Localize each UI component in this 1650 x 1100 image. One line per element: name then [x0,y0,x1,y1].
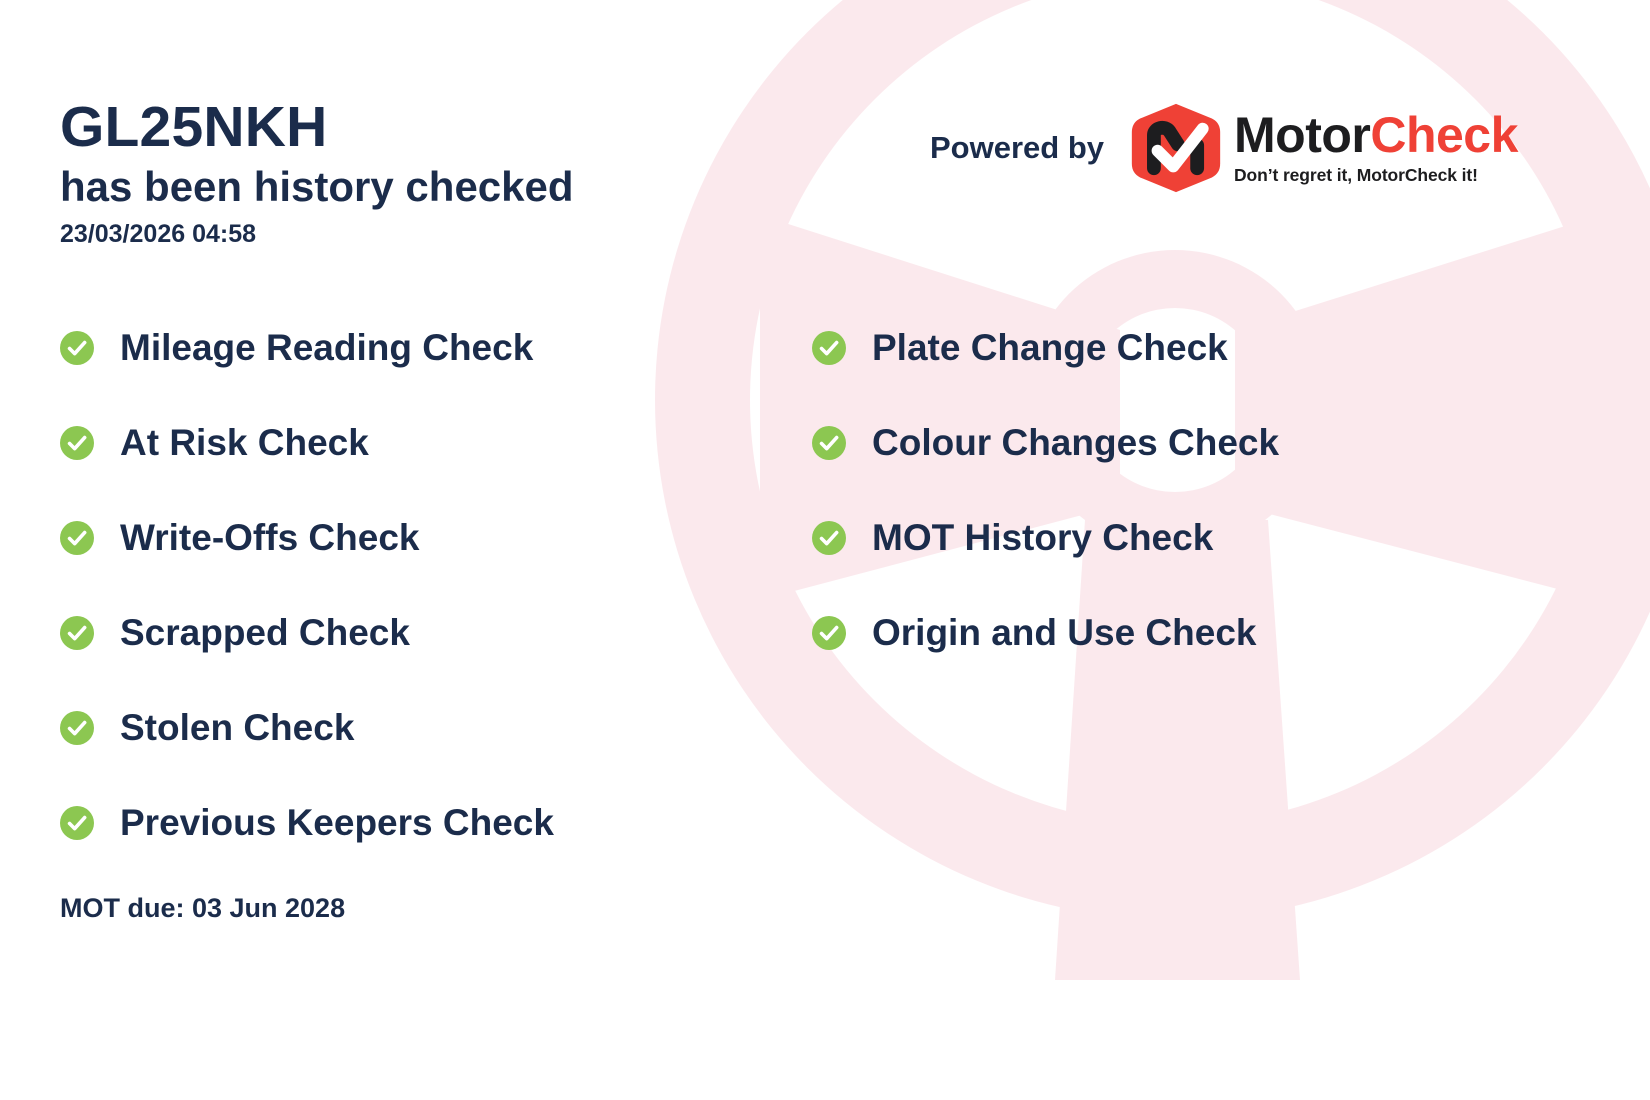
list-item: Colour Changes Check [812,395,1572,490]
mot-due-label: MOT due: 03 Jun 2028 [60,893,345,924]
registration-block: GL25NKH has been history checked 23/03/2… [60,98,574,249]
powered-by-label: Powered by [930,130,1104,166]
checks-column-right: Plate Change Check Colour Changes Check … [812,300,1572,680]
list-item: Previous Keepers Check [60,775,800,870]
card-header: GL25NKH has been history checked 23/03/2… [0,0,1650,300]
check-circle-icon [60,806,94,840]
card-content: GL25NKH has been history checked 23/03/2… [0,0,1650,1100]
check-label: Colour Changes Check [872,424,1279,461]
motorcheck-tagline: Don’t regret it, MotorCheck it! [1234,165,1518,186]
motorcheck-wordmark: MotorCheck [1234,110,1518,160]
page-title: GL25NKH [60,98,574,156]
check-circle-icon [60,331,94,365]
check-circle-icon [60,616,94,650]
list-item: At Risk Check [60,395,800,490]
list-item: Scrapped Check [60,585,800,680]
list-item: MOT History Check [812,490,1572,585]
check-label: Plate Change Check [872,329,1228,366]
powered-by-block: Powered by MotorCheck Don’t regret it, M… [930,105,1518,191]
list-item: Stolen Check [60,680,800,775]
check-label: Stolen Check [120,709,354,746]
check-circle-icon [812,331,846,365]
checks-column-left: Mileage Reading Check At Risk Check Writ… [60,300,800,870]
motorcheck-wordmark-block: MotorCheck Don’t regret it, MotorCheck i… [1234,110,1518,186]
list-item: Mileage Reading Check [60,300,800,395]
list-item: Origin and Use Check [812,585,1572,680]
list-item: Write-Offs Check [60,490,800,585]
check-circle-icon [812,616,846,650]
check-circle-icon [60,521,94,555]
check-label: Previous Keepers Check [120,804,554,841]
wordmark-motor: Motor [1234,107,1370,163]
check-circle-icon [812,426,846,460]
check-label: Scrapped Check [120,614,410,651]
vehicle-history-check-card: GL25NKH has been history checked 23/03/2… [0,0,1650,1100]
check-label: MOT History Check [872,519,1213,556]
check-circle-icon [60,426,94,460]
motorcheck-hexagon-icon [1130,102,1222,194]
motorcheck-logo[interactable]: MotorCheck Don’t regret it, MotorCheck i… [1130,102,1518,194]
check-label: Mileage Reading Check [120,329,533,366]
check-timestamp: 23/03/2026 04:58 [60,220,574,249]
list-item: Plate Change Check [812,300,1572,395]
check-circle-icon [60,711,94,745]
check-label: Write-Offs Check [120,519,420,556]
wordmark-check: Check [1370,107,1518,163]
check-label: At Risk Check [120,424,369,461]
check-circle-icon [812,521,846,555]
check-label: Origin and Use Check [872,614,1257,651]
page-subtitle: has been history checked [60,162,574,212]
